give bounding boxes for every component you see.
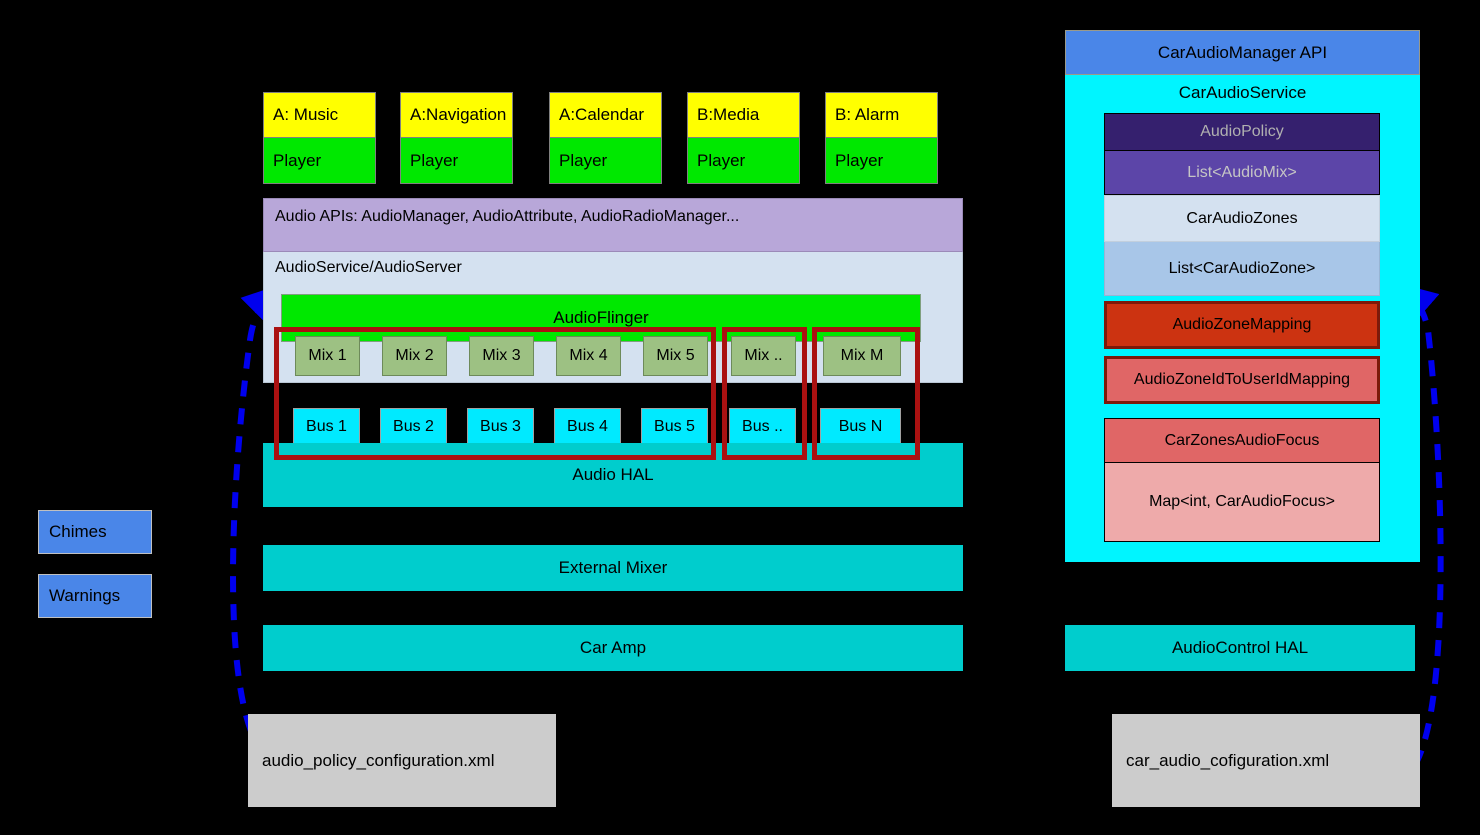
external-mixer-band: External Mixer bbox=[263, 545, 963, 591]
audio-zone-id-to-user-id-mapping-box[interactable]: AudioZoneIdToUserIdMapping bbox=[1104, 356, 1380, 404]
bus-box-4[interactable]: Bus 5 bbox=[641, 408, 708, 446]
diagram-canvas: A: Music Player A:Navigation Player A:Ca… bbox=[0, 0, 1480, 835]
car-audio-zones-box[interactable]: CarAudioZones bbox=[1104, 195, 1380, 242]
bus-box-1[interactable]: Bus 2 bbox=[380, 408, 447, 446]
audio-policy-box[interactable]: AudioPolicy bbox=[1104, 113, 1380, 151]
bus-box-2[interactable]: Bus 3 bbox=[467, 408, 534, 446]
app-card-player-3[interactable]: Player bbox=[687, 138, 800, 184]
audio-zone-mapping-box[interactable]: AudioZoneMapping bbox=[1104, 301, 1380, 349]
car-audio-configuration-file[interactable]: car_audio_cofiguration.xml bbox=[1112, 714, 1420, 807]
bus-box-6[interactable]: Bus N bbox=[820, 408, 901, 446]
mix-box-5[interactable]: Mix .. bbox=[731, 336, 796, 376]
app-card-title-1[interactable]: A:Navigation bbox=[400, 92, 513, 138]
audio-hal-band: Audio HAL bbox=[263, 443, 963, 507]
mix-box-4[interactable]: Mix 5 bbox=[643, 336, 708, 376]
audio-apis-band: Audio APIs: AudioManager, AudioAttribute… bbox=[263, 198, 963, 252]
app-card-player-4[interactable]: Player bbox=[825, 138, 938, 184]
chimes-box[interactable]: Chimes bbox=[38, 510, 152, 554]
mix-box-2[interactable]: Mix 3 bbox=[469, 336, 534, 376]
car-audio-manager-api[interactable]: CarAudioManager API bbox=[1065, 30, 1420, 75]
audio-flinger-band: AudioFlinger bbox=[281, 294, 921, 342]
app-card-title-2[interactable]: A:Calendar bbox=[549, 92, 662, 138]
app-card-player-1[interactable]: Player bbox=[400, 138, 513, 184]
mix-box-0[interactable]: Mix 1 bbox=[295, 336, 360, 376]
car-amp-band: Car Amp bbox=[263, 625, 963, 671]
bus-box-0[interactable]: Bus 1 bbox=[293, 408, 360, 446]
app-card-title-4[interactable]: B: Alarm bbox=[825, 92, 938, 138]
map-int-car-audio-focus-box[interactable]: Map<int, CarAudioFocus> bbox=[1104, 463, 1380, 542]
app-card-title-0[interactable]: A: Music bbox=[263, 92, 376, 138]
list-audio-mix-box[interactable]: List<AudioMix> bbox=[1104, 151, 1380, 195]
car-audio-service-label: CarAudioService bbox=[1065, 80, 1420, 106]
warnings-box[interactable]: Warnings bbox=[38, 574, 152, 618]
list-car-audio-zone-box[interactable]: List<CarAudioZone> bbox=[1104, 242, 1380, 296]
audio-control-hal-band: AudioControl HAL bbox=[1065, 625, 1415, 671]
audio-policy-configuration-file[interactable]: audio_policy_configuration.xml bbox=[248, 714, 556, 807]
app-card-title-3[interactable]: B:Media bbox=[687, 92, 800, 138]
app-card-player-2[interactable]: Player bbox=[549, 138, 662, 184]
bus-box-3[interactable]: Bus 4 bbox=[554, 408, 621, 446]
bus-box-5[interactable]: Bus .. bbox=[729, 408, 796, 446]
car-zones-audio-focus-box[interactable]: CarZonesAudioFocus bbox=[1104, 418, 1380, 463]
mix-box-3[interactable]: Mix 4 bbox=[556, 336, 621, 376]
mix-box-1[interactable]: Mix 2 bbox=[382, 336, 447, 376]
mix-box-6[interactable]: Mix M bbox=[823, 336, 901, 376]
app-card-player-0[interactable]: Player bbox=[263, 138, 376, 184]
